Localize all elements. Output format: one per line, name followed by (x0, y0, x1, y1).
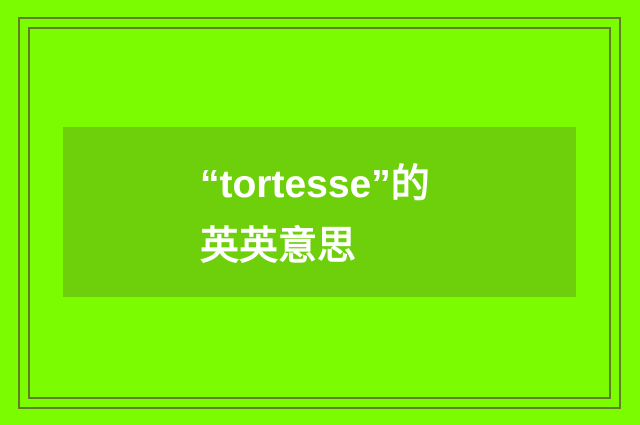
headline-text: “tortesse”的英英意思 (200, 154, 465, 278)
poster-canvas: “tortesse”的英英意思 (0, 0, 640, 425)
headline-panel: “tortesse”的英英意思 (63, 127, 576, 297)
